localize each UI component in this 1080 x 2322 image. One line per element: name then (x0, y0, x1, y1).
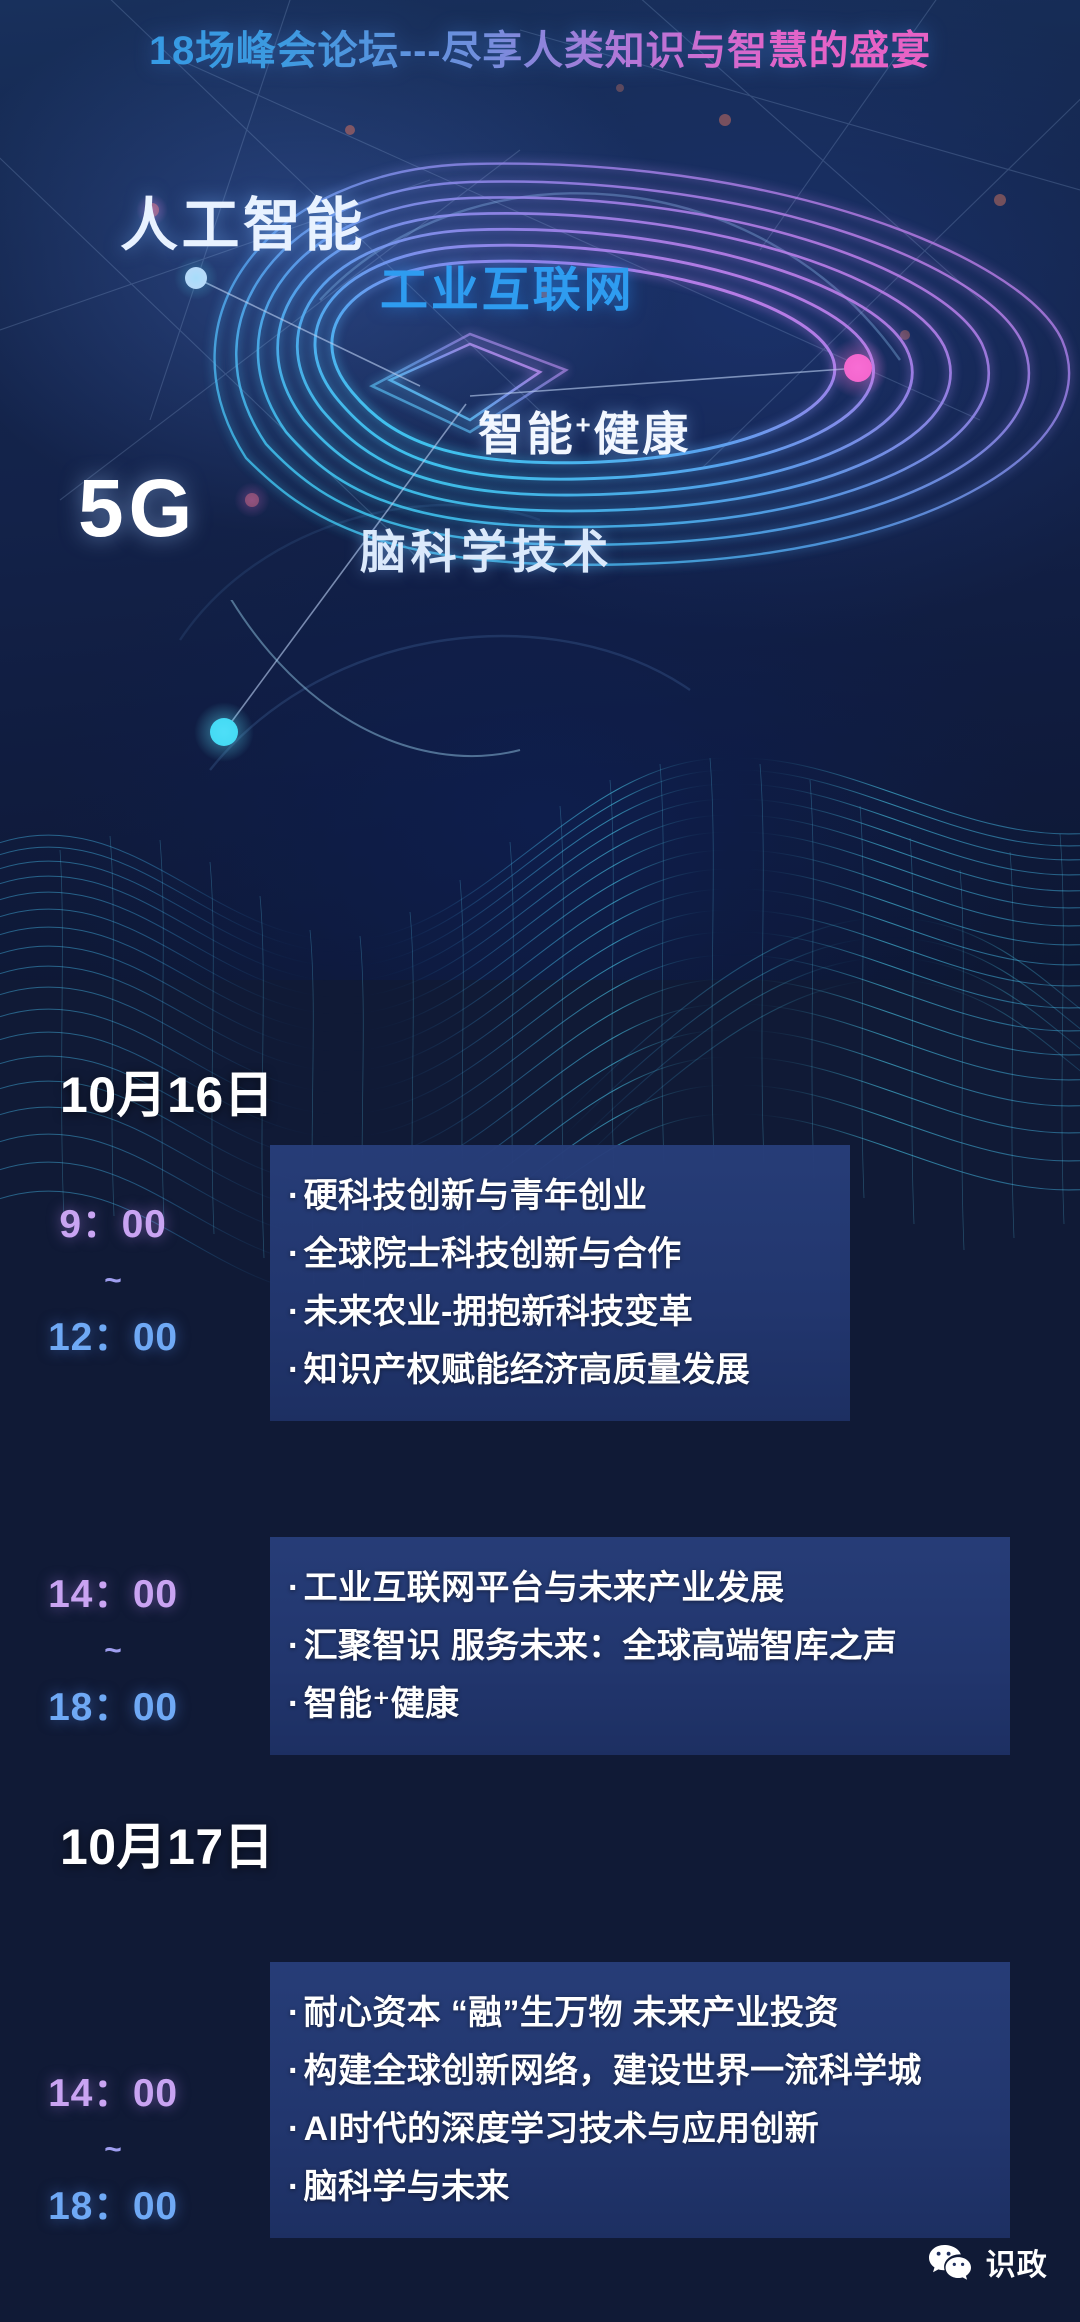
schedule-section: 10月16日 9：00 ~ 12：00 ·硬科技创新与青年创业 ·全球院士科技创… (0, 980, 1080, 2322)
session-card: ·耐心资本 “融”生万物 未来产业投资 ·构建全球创新网络，建设世界一流科学城 … (270, 1962, 1010, 2238)
page-title: 18场峰会论坛---尽享人类知识与智慧的盛宴 (0, 18, 1080, 76)
session-item: ·脑科学与未来 (288, 2158, 984, 2216)
hero-label-smart-health-superscript: + (576, 410, 594, 440)
hero-label-smart-health-tail: 健康 (593, 408, 691, 460)
bullet-icon: · (288, 1235, 300, 1273)
bullet-icon: · (288, 1627, 300, 1665)
session-item: ·未来农业-拥抱新科技变革 (288, 1283, 824, 1341)
session-card: ·硬科技创新与青年创业 ·全球院士科技创新与合作 ·未来农业-拥抱新科技变革 ·… (270, 1145, 850, 1421)
hero-label-ai: 人工智能 (120, 178, 366, 262)
session-title: 耐心资本 “融”生万物 未来产业投资 (304, 1994, 839, 2032)
session-item: ·工业互联网平台与未来产业发展 (288, 1559, 984, 1617)
day-heading-2: 10月17日 (60, 1807, 274, 1879)
session-title: 工业互联网平台与未来产业发展 (304, 1569, 785, 1607)
session-item: ·构建全球创新网络，建设世界一流科学城 (288, 2042, 984, 2100)
footer-account-name: 识政 (986, 2240, 1048, 2284)
time-end: 18：00 (18, 2187, 208, 2226)
session-title: 硬科技创新与青年创业 (304, 1177, 647, 1215)
bullet-icon: · (288, 1351, 300, 1389)
session-card: ·工业互联网平台与未来产业发展 ·汇聚智识 服务未来：全球高端智库之声 ·智能⁺… (270, 1537, 1010, 1755)
time-separator: ~ (18, 2135, 208, 2165)
time-range: 14：00 ~ 18：00 (18, 1575, 208, 1727)
poster-root: 人工智能 工业互联网 智能+健康 5G 脑科学技术 (0, 0, 1080, 2322)
time-end: 18：00 (18, 1688, 208, 1727)
session-title: 智能⁺健康 (304, 1685, 460, 1723)
session-title: 构建全球创新网络，建设世界一流科学城 (304, 2052, 922, 2090)
session-title: 未来农业-拥抱新科技变革 (304, 1293, 693, 1331)
time-separator: ~ (18, 1266, 208, 1296)
bullet-icon: · (288, 1293, 300, 1331)
session-title: 脑科学与未来 (304, 2168, 510, 2206)
hero-label-smart-health-main: 智能 (478, 408, 576, 460)
time-separator: ~ (18, 1636, 208, 1666)
session-item: ·硬科技创新与青年创业 (288, 1167, 824, 1225)
session-title: 知识产权赋能经济高质量发展 (304, 1351, 750, 1389)
hero-label-industrial-internet: 工业互联网 (380, 250, 634, 320)
session-item: ·汇聚智识 服务未来：全球高端智库之声 (288, 1617, 984, 1675)
session-title: 汇聚智识 服务未来：全球高端智库之声 (304, 1627, 898, 1665)
time-end: 12：00 (18, 1318, 208, 1357)
time-start: 9：00 (18, 1205, 208, 1244)
hero-label-brain-science: 脑科学技术 (360, 516, 613, 582)
wechat-icon (926, 2242, 974, 2282)
session-title: 全球院士科技创新与合作 (304, 1235, 682, 1273)
session-item: ·耐心资本 “融”生万物 未来产业投资 (288, 1984, 984, 2042)
bullet-icon: · (288, 2052, 300, 2090)
hero-label-smart-health: 智能+健康 (478, 398, 691, 464)
bullet-icon: · (288, 1177, 300, 1215)
bullet-icon: · (288, 1685, 300, 1723)
time-start: 14：00 (18, 1575, 208, 1614)
session-title: AI时代的深度学习技术与应用创新 (304, 2110, 819, 2148)
session-item: ·全球院士科技创新与合作 (288, 1225, 824, 1283)
bullet-icon: · (288, 1994, 300, 2032)
bullet-icon: · (288, 2168, 300, 2206)
session-item: ·知识产权赋能经济高质量发展 (288, 1341, 824, 1399)
hero-label-5g: 5G (78, 462, 197, 556)
session-item: ·智能⁺健康 (288, 1675, 984, 1733)
bullet-icon: · (288, 2110, 300, 2148)
footer-account[interactable]: 识政 (926, 2240, 1048, 2284)
session-item: ·AI时代的深度学习技术与应用创新 (288, 2100, 984, 2158)
time-start: 14：00 (18, 2074, 208, 2113)
day-heading-1: 10月16日 (60, 1055, 274, 1127)
time-range: 9：00 ~ 12：00 (18, 1205, 208, 1357)
time-range: 14：00 ~ 18：00 (18, 2074, 208, 2226)
bullet-icon: · (288, 1569, 300, 1607)
